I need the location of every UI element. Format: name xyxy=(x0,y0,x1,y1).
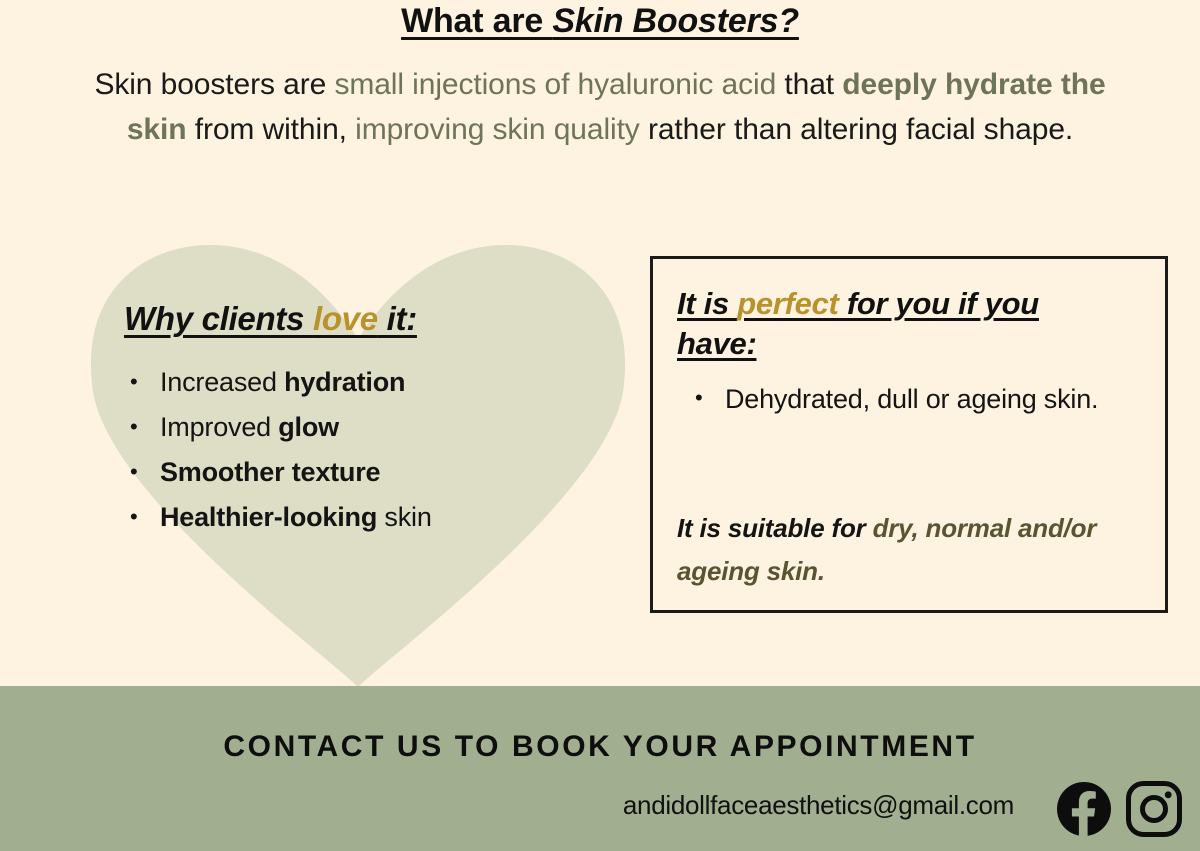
bullet-plain-before: Improved xyxy=(160,412,278,442)
bullet-bold: glow xyxy=(278,412,339,442)
bullet-plain-before: Increased xyxy=(160,367,284,397)
list-item: Improved glow xyxy=(124,405,644,450)
right-panel-title: It is perfect for you if you have: xyxy=(677,284,1123,364)
intro-paragraph: Skin boosters are small injections of hy… xyxy=(92,62,1108,152)
intro-seg-2-highlight: small injections of hyaluronic acid xyxy=(334,68,776,101)
perfect-for-you-box: It is perfect for you if you have: Dehyd… xyxy=(650,256,1168,613)
list-item: Increased hydration xyxy=(124,360,644,405)
left-title-gold: love xyxy=(313,300,378,337)
intro-seg-1: Skin boosters are xyxy=(94,68,334,101)
footer-call-to-action: CONTACT US TO BOOK YOUR APPOINTMENT xyxy=(0,730,1200,764)
page-title: What are Skin Boosters? xyxy=(0,2,1200,41)
social-links xyxy=(1022,774,1182,844)
left-title-part1: Why clients xyxy=(124,300,313,337)
bullet-bold: Smoother texture xyxy=(160,457,380,487)
intro-seg-6-highlight: improving skin quality xyxy=(355,113,640,146)
instagram-icon[interactable] xyxy=(1126,781,1182,837)
left-panel-title: Why clients love it: xyxy=(124,300,417,338)
list-item: Smoother texture xyxy=(124,450,644,495)
bullet-plain-after: skin xyxy=(377,502,432,532)
contact-email[interactable]: andidollfaceaesthetics@gmail.com xyxy=(623,790,1014,821)
list-item: Dehydrated, dull or ageing skin. xyxy=(689,379,1141,420)
page-title-plain: What are xyxy=(401,2,552,40)
candidate-list: Dehydrated, dull or ageing skin. xyxy=(689,379,1141,420)
left-title-part2: it: xyxy=(378,300,417,337)
poster-canvas: What are Skin Boosters? Skin boosters ar… xyxy=(0,0,1200,851)
contact-footer-bar: CONTACT US TO BOOK YOUR APPOINTMENT andi… xyxy=(0,686,1200,851)
benefits-list: Increased hydration Improved glow Smooth… xyxy=(124,360,644,540)
right-title-part1: It is xyxy=(677,286,737,321)
intro-seg-5: from within, xyxy=(186,113,355,146)
suitability-note: It is suitable for dry, normal and/or ag… xyxy=(677,507,1147,593)
page-title-italic: Skin Boosters? xyxy=(552,2,799,40)
intro-seg-7: rather than altering facial shape. xyxy=(640,113,1073,146)
why-clients-love-it-panel: Why clients love it: Increased hydration… xyxy=(124,300,644,540)
facebook-icon[interactable] xyxy=(1056,781,1112,837)
suitability-lead: It is suitable for xyxy=(677,513,873,543)
intro-seg-3: that xyxy=(776,68,842,101)
bullet-bold: hydration xyxy=(284,367,405,397)
right-title-gold: perfect xyxy=(737,286,838,321)
bullet-bold: Healthier-looking xyxy=(160,502,377,532)
list-item: Healthier-looking skin xyxy=(124,495,644,540)
